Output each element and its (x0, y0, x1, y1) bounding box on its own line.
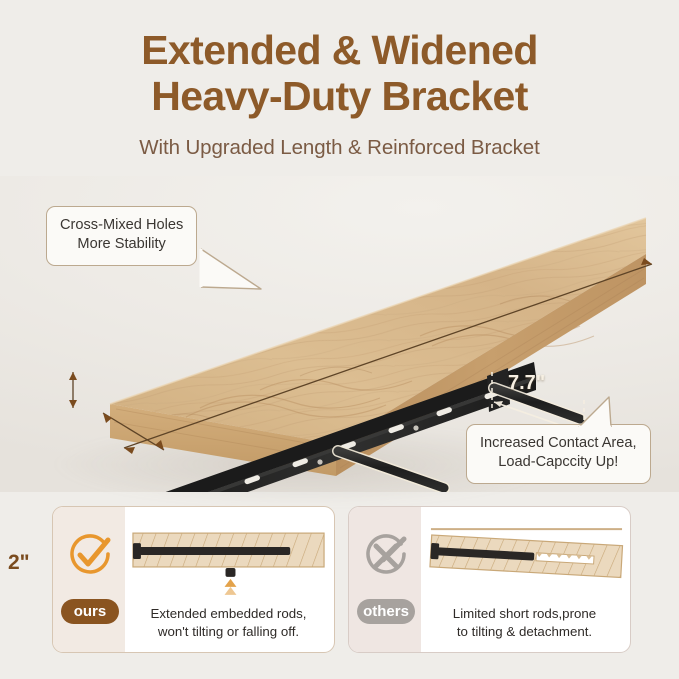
callout-increased-contact-area: Increased Contact Area, Load-Capccity Up… (466, 424, 651, 484)
panel-others-body: Limited short rods,prone to tilting & de… (421, 507, 630, 652)
diagram-extended-rod (125, 511, 334, 603)
panel-others-sidebar (349, 507, 421, 652)
page-title: Extended & Widened Heavy-Duty Bracket (0, 28, 679, 120)
comparison-panel-ours: ours (52, 506, 335, 653)
callout-holes-line-2: More Stability (60, 235, 183, 254)
page-subtitle: With Upgraded Length & Reinforced Bracke… (0, 136, 679, 160)
callout-load-line-2: Load-Capccity Up! (480, 453, 637, 472)
badge-ours: ours (61, 599, 119, 624)
panel-ours-caption-line-1: Extended embedded rods, (129, 605, 328, 623)
panel-ours-caption: Extended embedded rods, won't tilting or… (129, 605, 328, 641)
panel-others-caption-line-2: to tilting & detachment. (425, 623, 624, 641)
panel-others-caption-line-1: Limited short rods,prone (425, 605, 624, 623)
panel-ours-body: Extended embedded rods, won't tilting or… (125, 507, 334, 652)
callout-tail-icon (199, 247, 265, 293)
callout-load-line-1: Increased Contact Area, (480, 434, 637, 453)
callout-holes-line-1: Cross-Mixed Holes (60, 216, 183, 235)
panel-ours-sidebar (53, 507, 125, 652)
callout-tail-up-icon (575, 395, 621, 429)
badge-others: others (357, 599, 415, 624)
thickness-dimension (69, 372, 77, 408)
bracket-rod-middle (338, 451, 444, 488)
panel-ours-caption-line-2: won't tilting or falling off. (129, 623, 328, 641)
title-line-1: Extended & Widened (141, 27, 538, 73)
bracket-arm-label: 7.7" (508, 372, 545, 395)
callout-cross-mixed-holes: Cross-Mixed Holes More Stability (46, 206, 197, 266)
comparison-section: ours (0, 498, 679, 668)
diagram-short-rod (421, 511, 630, 603)
product-infographic: Extended & Widened Heavy-Duty Bracket Wi… (0, 0, 679, 679)
title-line-2: Heavy-Duty Bracket (151, 73, 528, 119)
panel-others-caption: Limited short rods,prone to tilting & de… (425, 605, 624, 641)
comparison-panel-others: others (348, 506, 631, 653)
check-circle-icon (67, 533, 113, 579)
cross-circle-icon (363, 533, 409, 579)
hero-header: Extended & Widened Heavy-Duty Bracket Wi… (0, 28, 679, 160)
